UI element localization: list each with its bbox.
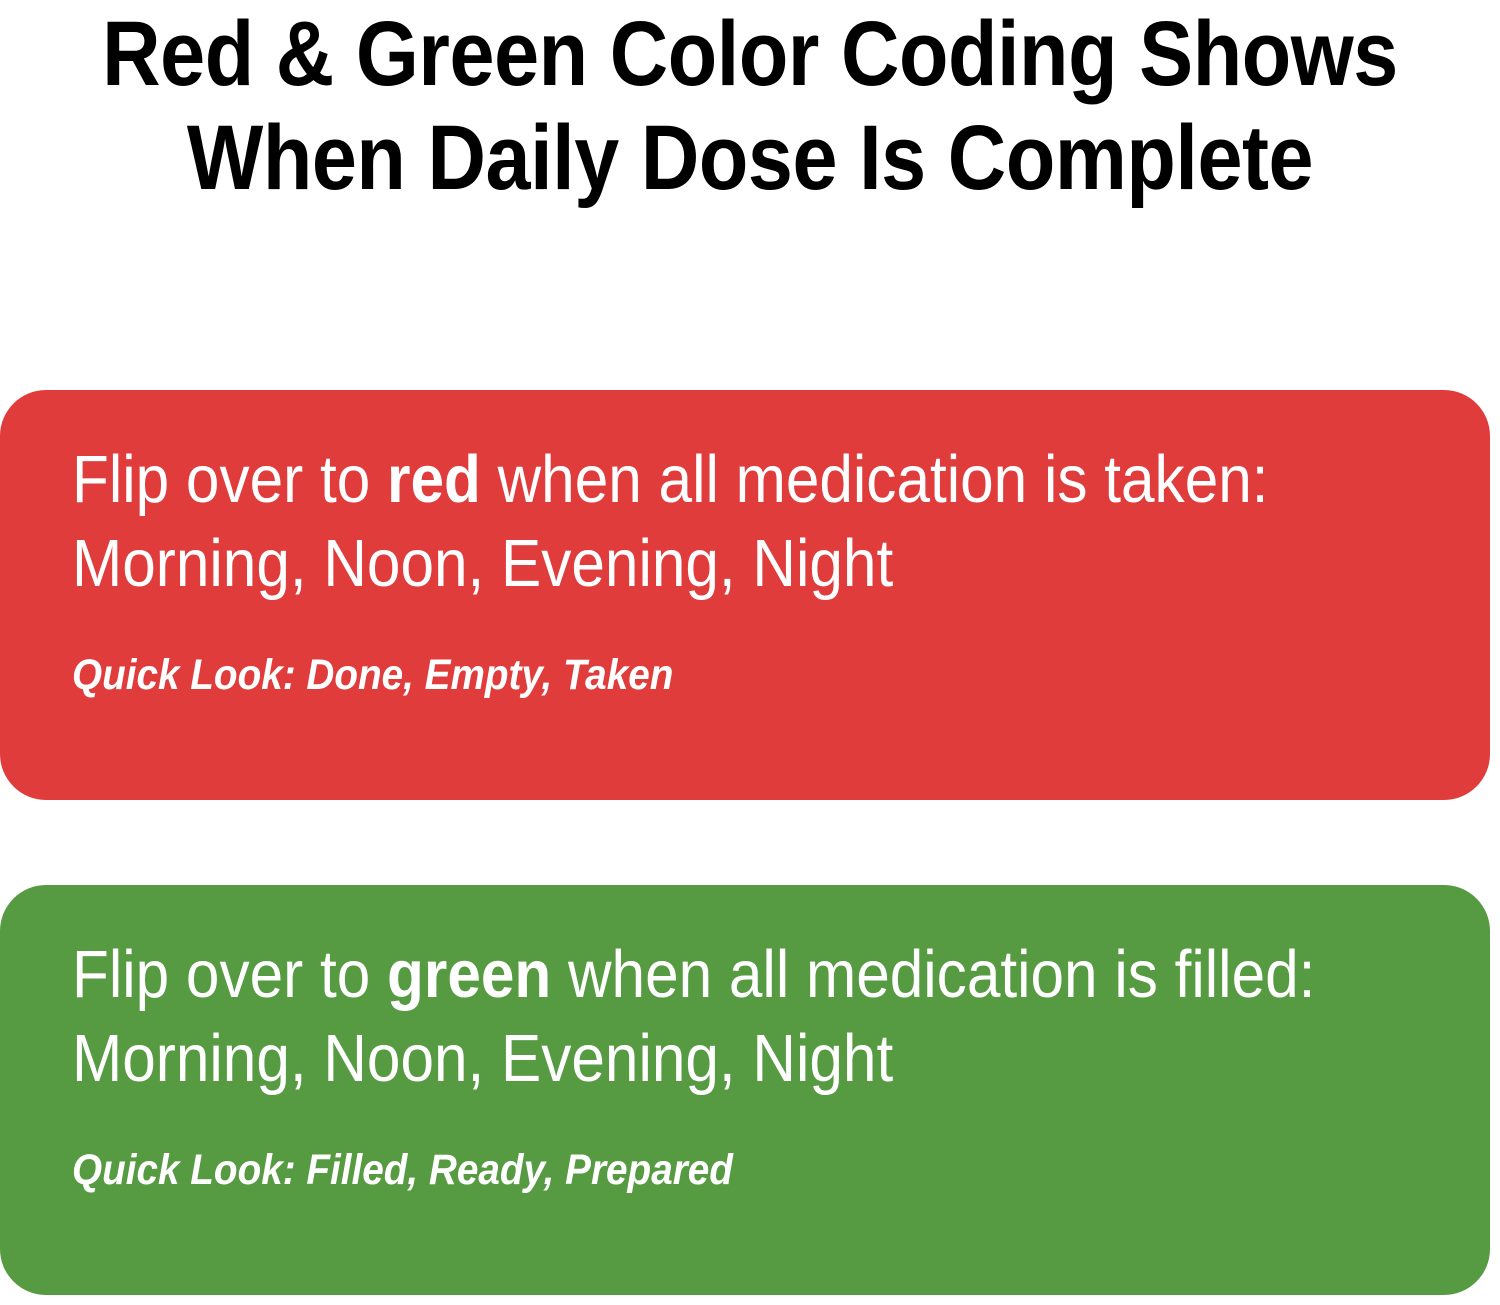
green-panel-emphasis-word: green xyxy=(387,937,551,1012)
red-panel-line-1-prefix: Flip over to xyxy=(72,442,387,517)
green-instruction-panel: Flip over to green when all medication i… xyxy=(0,885,1490,1295)
red-panel-body: Flip over to red when all medication is … xyxy=(72,438,1450,700)
green-panel-line-2: Morning, Noon, Evening, Night xyxy=(72,1017,1312,1101)
page-title-line-1: Red & Green Color Coding Shows xyxy=(90,2,1410,106)
red-panel-quick-look: Quick Look: Done, Empty, Taken xyxy=(72,650,1312,700)
red-panel-line-2: Morning, Noon, Evening, Night xyxy=(72,522,1312,606)
red-panel-line-1-suffix: when all medication is taken: xyxy=(481,442,1269,517)
red-panel-emphasis-word: red xyxy=(387,442,481,517)
page-title-line-2: When Daily Dose Is Complete xyxy=(90,106,1410,210)
green-panel-line-1-prefix: Flip over to xyxy=(72,937,387,1012)
green-panel-line-1-suffix: when all medication is filled: xyxy=(551,937,1315,1012)
red-instruction-panel: Flip over to red when all medication is … xyxy=(0,390,1490,800)
green-panel-line-1: Flip over to green when all medication i… xyxy=(72,933,1312,1017)
green-panel-quick-look: Quick Look: Filled, Ready, Prepared xyxy=(72,1145,1312,1195)
page-title: Red & Green Color Coding Shows When Dail… xyxy=(0,0,1500,210)
red-panel-line-1: Flip over to red when all medication is … xyxy=(72,438,1312,522)
green-panel-body: Flip over to green when all medication i… xyxy=(72,933,1450,1195)
